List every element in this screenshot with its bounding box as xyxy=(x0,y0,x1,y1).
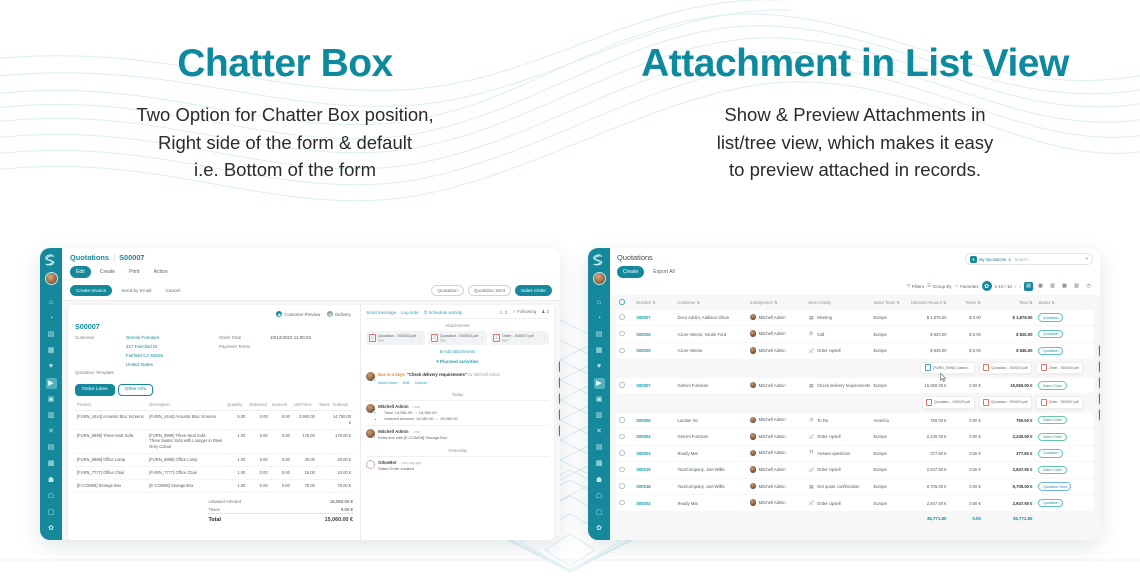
cell-next-activity[interactable]: 📈Order Upsell xyxy=(805,462,870,478)
cell-next-activity[interactable]: 📈Order Upsell xyxy=(805,343,870,359)
pivot-icon[interactable]: ▩ xyxy=(1060,282,1069,291)
order-line-row[interactable]: [FURN_8999] Three-Seat Sofa[FURN_8999] T… xyxy=(75,429,353,454)
send-message-button[interactable]: Send message xyxy=(366,310,396,315)
cell-quantity[interactable]: 5.00 xyxy=(225,410,247,429)
order-line-row[interactable]: [E-COM08] Storage Box[E-COM08] Storage B… xyxy=(75,480,353,493)
edit-activity-link[interactable]: Edit xyxy=(403,380,410,385)
group-by-button[interactable]: ☰Group By xyxy=(927,283,952,289)
col-delivered[interactable]: Delivered xyxy=(247,399,269,411)
row-checkbox-cell[interactable] xyxy=(616,343,633,359)
cell-customer[interactable]: Azure Interior, Nicole Ford xyxy=(674,326,746,342)
cell-product[interactable]: [E-COM08] Storage Box xyxy=(75,480,147,493)
col-unit-price[interactable]: Unit Price xyxy=(292,399,317,411)
cell-salesperson[interactable]: Mitchell Admin xyxy=(747,413,805,429)
cell-status[interactable]: Quotation xyxy=(1035,310,1080,326)
cell-sales-team[interactable]: Europe xyxy=(870,495,904,511)
cell-taxes[interactable] xyxy=(317,454,331,467)
table-row[interactable]: S00003Ready MatMitchell Admin⁇Answer que… xyxy=(616,446,1094,462)
cell-total[interactable]: $ 1,876.00 xyxy=(984,310,1036,326)
cell-invoiced[interactable]: 0.00 xyxy=(270,410,292,429)
fullscreen-icon[interactable]: ⛶ xyxy=(559,392,560,405)
stage-quotation-sent[interactable]: Quotation Sent xyxy=(468,285,511,296)
col-customer[interactable]: Customer ⇅ xyxy=(674,296,746,309)
col-quantity[interactable]: Quantity xyxy=(225,399,247,411)
col-subtotal[interactable]: Subtotal xyxy=(331,399,353,411)
action-button[interactable]: Action xyxy=(149,267,173,277)
cell-untaxed-amount[interactable]: 9,705.00 € xyxy=(905,479,950,495)
table-row[interactable]: S00019YourCompany, Joel WillisMitchell A… xyxy=(616,462,1094,478)
col-sales-team[interactable]: Sales Team ⇅ xyxy=(870,296,904,309)
cell-taxes[interactable]: 0.00 € xyxy=(950,378,984,394)
cell-taxes[interactable]: 0.00 € xyxy=(950,479,984,495)
col-description[interactable]: Description xyxy=(147,399,225,411)
chevron-down-icon[interactable]: ▾ xyxy=(1086,256,1088,262)
cell-next-activity[interactable]: ▤Meeting xyxy=(805,310,870,326)
cell-invoiced[interactable]: 0.00 xyxy=(270,429,292,454)
cell-invoiced[interactable]: 0.00 xyxy=(270,454,292,467)
sidebar-icon-sales[interactable]: ▶ xyxy=(46,378,57,389)
print-button[interactable]: Print xyxy=(124,267,144,277)
cell-sales-team[interactable]: Europe xyxy=(870,343,904,359)
attachment-chip[interactable]: [FURN_0096] Custom... xyxy=(920,362,974,374)
cell-untaxed-amount[interactable]: $ 846.00 xyxy=(905,343,950,359)
field-payment-terms-value[interactable] xyxy=(270,344,353,351)
row-checkbox[interactable] xyxy=(619,500,625,506)
cell-total[interactable]: 2,947.50 € xyxy=(984,462,1036,478)
cell-status[interactable]: Quotation xyxy=(1035,446,1080,462)
cell-untaxed-amount[interactable]: 750.00 € xyxy=(905,413,950,429)
cell-customer[interactable]: YourCompany, Joel Willis xyxy=(674,462,746,478)
field-order-date[interactable]: Order Date 10/12/2022 11:00:23 xyxy=(219,335,353,342)
cell-status[interactable]: Sales Order xyxy=(1035,429,1080,445)
row-checkbox-cell[interactable] xyxy=(616,326,633,342)
cell-untaxed-amount[interactable]: 2,947.50 € xyxy=(905,462,950,478)
cell-sales-team[interactable]: Europe xyxy=(870,378,904,394)
calendar-icon[interactable]: ▥ xyxy=(1048,282,1057,291)
cell-number[interactable]: S00018 xyxy=(633,479,674,495)
sidebar-icon-inventory[interactable]: ▥ xyxy=(594,410,605,421)
sidebar-icon-contacts[interactable]: ▦ xyxy=(46,345,57,356)
sidebar-icon-crm[interactable]: ♥ xyxy=(46,361,57,372)
cell-customer[interactable]: Lumber Inc xyxy=(674,413,746,429)
fullscreen-icon[interactable]: ⛶ xyxy=(1099,376,1100,389)
cell-untaxed-amount[interactable]: $ 820.00 xyxy=(905,326,950,342)
cell-next-activity[interactable]: ✆Call xyxy=(805,326,870,342)
cell-subtotal[interactable]: 18.00 € xyxy=(331,467,353,480)
stage-quotation[interactable]: Quotation xyxy=(431,285,463,296)
cell-number[interactable]: S00006 xyxy=(633,413,674,429)
cell-quantity[interactable]: 1.00 xyxy=(225,480,247,493)
cell-number[interactable]: S00007 xyxy=(633,378,674,394)
col-untaxed-amount[interactable]: Untaxed Amount ⇅ xyxy=(905,296,950,309)
cell-next-activity[interactable]: 📈Order Upsell xyxy=(805,495,870,511)
attachment-chip[interactable]: Quotation - S00023.pdf xyxy=(979,362,1032,374)
col-status[interactable]: Status ⇅ xyxy=(1035,296,1080,309)
export-all-button[interactable]: Export All xyxy=(648,267,680,277)
cell-options[interactable] xyxy=(1080,479,1094,495)
sidebar-icon-purchase[interactable]: ▤ xyxy=(46,442,57,453)
cell-untaxed-amount[interactable]: 2,240.00 € xyxy=(905,429,950,445)
cell-taxes[interactable]: 0.00 € xyxy=(950,495,984,511)
col-taxes[interactable]: Taxes xyxy=(317,399,331,411)
attachment-menu-icon[interactable]: ⋮ xyxy=(481,336,484,340)
field-order-date-value[interactable]: 10/12/2022 11:00:23 xyxy=(270,335,353,342)
sidebar-icon-inventory[interactable]: ▥ xyxy=(46,410,57,421)
attachment-chip[interactable]: Quotation - S00023.pdf xyxy=(922,396,975,408)
cell-number[interactable]: S00019 xyxy=(633,462,674,478)
delivery-stat[interactable]: ▤ Delivery xyxy=(327,311,351,317)
cell-salesperson[interactable]: Mitchell Admin xyxy=(747,343,805,359)
close-icon[interactable]: ✕ xyxy=(1008,257,1012,262)
mark-done-link[interactable]: Mark Done xyxy=(378,380,398,385)
col-options[interactable]: ⋮ xyxy=(1080,296,1094,309)
cell-sales-team[interactable]: Europe xyxy=(870,479,904,495)
sidebar-icon-discuss[interactable]: ◔ xyxy=(594,313,605,324)
cell-taxes[interactable]: 0.00 € xyxy=(950,413,984,429)
cell-options[interactable] xyxy=(1080,429,1094,445)
row-checkbox[interactable] xyxy=(619,331,625,337)
field-customer[interactable]: Customer Gemini Furniture xyxy=(75,335,209,342)
cell-quantity[interactable]: 1.00 xyxy=(225,454,247,467)
cell-sales-team[interactable]: Europe xyxy=(870,446,904,462)
row-checkbox-cell[interactable] xyxy=(616,446,633,462)
customer-preview-stat[interactable]: ◉ Customer Preview xyxy=(276,311,320,317)
sidebar-icon-discuss[interactable]: ◔ xyxy=(46,313,57,324)
message-author[interactable]: OdooBot- one day ago xyxy=(378,460,549,465)
cell-options[interactable] xyxy=(1080,343,1094,359)
col-invoiced[interactable]: Invoiced xyxy=(270,399,292,411)
kanban-icon[interactable]: ▦ xyxy=(1036,282,1045,291)
add-attachments-button[interactable]: ⊞ Add attachments xyxy=(366,349,549,354)
cell-next-activity[interactable]: ⁇Answer questions xyxy=(805,446,870,462)
tab-other-info[interactable]: Other Info xyxy=(118,384,154,396)
sidebar-icon-recruitment[interactable]: ☖ xyxy=(46,491,57,502)
schedule-activity-button[interactable]: ⏱ Schedule activity xyxy=(424,310,463,315)
cell-product[interactable]: [FURN_8888] Office Lamp xyxy=(75,454,147,467)
cell-description[interactable]: [FURN_7777] Office Chair xyxy=(147,467,225,480)
breadcrumb-parent[interactable]: Quotations xyxy=(70,253,109,262)
row-checkbox[interactable] xyxy=(619,314,625,320)
sidebar-icon-manufacturing[interactable]: ✕ xyxy=(594,426,605,437)
cell-subtotal[interactable]: 79.00 € xyxy=(331,480,353,493)
follower-badge[interactable]: ♟ 3 xyxy=(541,309,549,315)
cell-options[interactable] xyxy=(1080,413,1094,429)
cell-number[interactable]: S00007 xyxy=(633,310,674,326)
row-checkbox-cell[interactable] xyxy=(616,462,633,478)
sidebar-icon-calendar[interactable]: ▤ xyxy=(46,329,57,340)
cell-delivered[interactable]: 0.00 xyxy=(247,410,269,429)
cell-salesperson[interactable]: Mitchell Admin xyxy=(747,462,805,478)
edit-button[interactable]: Edit xyxy=(70,266,91,278)
cell-options[interactable] xyxy=(1080,446,1094,462)
field-quotation-template-value[interactable] xyxy=(126,370,209,377)
table-row[interactable]: S00006Lumber IncMitchell Admin◷To DoAmer… xyxy=(616,413,1094,429)
cell-status[interactable]: Quotation xyxy=(1035,343,1080,359)
table-row[interactable]: S00026Azure Interior, Nicole FordMitchel… xyxy=(616,326,1094,342)
sidebar-icon-calendar[interactable]: ▤ xyxy=(594,329,605,340)
cell-salesperson[interactable]: Mitchell Admin xyxy=(747,429,805,445)
cell-unit-price[interactable]: 2,950.00 xyxy=(292,410,317,429)
cell-total[interactable]: 2,947.50 € xyxy=(984,495,1036,511)
sidebar-icon-apps[interactable]: ▢ xyxy=(594,507,605,518)
cell-taxes[interactable]: $ 0.00 xyxy=(950,310,984,326)
col-total[interactable]: Total ⇅ xyxy=(984,296,1036,309)
cell-description[interactable]: [E-COM08] Storage Box xyxy=(147,480,225,493)
cell-delivered[interactable]: 0.00 xyxy=(247,429,269,454)
cell-product[interactable]: [FURN_7777] Office Chair xyxy=(75,467,147,480)
cell-total[interactable]: 750.00 € xyxy=(984,413,1036,429)
pager-prev-button[interactable]: ‹ xyxy=(1015,284,1017,289)
sidebar-icon-purchase[interactable]: ▤ xyxy=(594,442,605,453)
create-invoice-button[interactable]: Create Invoice xyxy=(70,285,112,296)
cell-untaxed-amount[interactable]: 2,947.50 € xyxy=(905,495,950,511)
cell-quantity[interactable]: 1.00 xyxy=(225,467,247,480)
cell-total[interactable]: 2,240.00 € xyxy=(984,429,1036,445)
row-checkbox-cell[interactable] xyxy=(616,413,633,429)
cell-invoiced[interactable]: 0.00 xyxy=(270,480,292,493)
log-note-button[interactable]: Log note xyxy=(401,310,419,315)
cell-taxes[interactable] xyxy=(317,410,331,429)
cell-subtotal[interactable]: 40.00 € xyxy=(331,454,353,467)
search-icon[interactable]: ⌕ xyxy=(559,376,560,389)
cell-total[interactable]: $ 846.00 xyxy=(984,343,1036,359)
cell-status[interactable]: Quotation xyxy=(1035,495,1080,511)
cell-options[interactable] xyxy=(1080,378,1094,394)
cell-total[interactable]: 377.60 € xyxy=(984,446,1036,462)
sidebar-icon-home[interactable]: ⌂ xyxy=(594,297,605,308)
row-checkbox[interactable] xyxy=(619,382,625,388)
col-salesperson[interactable]: Salesperson ⇅ xyxy=(747,296,805,309)
sidebar-icon-employees[interactable]: ☗ xyxy=(46,475,57,486)
cell-taxes[interactable]: 0.00 € xyxy=(950,446,984,462)
cell-sales-team[interactable]: Europe xyxy=(870,326,904,342)
cell-salesperson[interactable]: Mitchell Admin xyxy=(747,310,805,326)
cell-unit-price[interactable]: 79.00 xyxy=(292,480,317,493)
row-checkbox[interactable] xyxy=(619,434,625,440)
cell-number[interactable]: S00003 xyxy=(633,446,674,462)
cell-invoiced[interactable]: 0.00 xyxy=(270,467,292,480)
cell-taxes[interactable] xyxy=(317,480,331,493)
select-all-checkbox-cell[interactable] xyxy=(616,296,633,309)
order-line-row[interactable]: [FURN_8888] Office Lamp[FURN_8888] Offic… xyxy=(75,454,353,467)
cell-status[interactable]: Sales Order xyxy=(1035,378,1080,394)
table-row[interactable]: S00002Ready MatMitchell Admin📈Order Upse… xyxy=(616,495,1094,511)
col-number[interactable]: Number ⇅ xyxy=(633,296,674,309)
follower-count[interactable]: ☺ 3 xyxy=(499,310,507,315)
sidebar-icon-website[interactable]: ▩ xyxy=(46,458,57,469)
cell-next-activity[interactable]: ◷To Do xyxy=(805,413,870,429)
sidebar-icon-invoicing[interactable]: ▣ xyxy=(46,394,57,405)
row-checkbox-cell[interactable] xyxy=(616,429,633,445)
attachment-chip[interactable]: Order - S00007.pdf xyxy=(1036,396,1083,408)
cell-taxes[interactable]: $ 0.00 xyxy=(950,343,984,359)
cancel-activity-link[interactable]: Cancel xyxy=(415,380,427,385)
cell-description[interactable]: [FURN_8888] Office Lamp xyxy=(147,454,225,467)
attachment-chip[interactable]: Quotation - S00010.pdf xyxy=(979,396,1032,408)
sidebar-icon-apps[interactable]: ▢ xyxy=(46,507,57,518)
cell-quantity[interactable]: 1.00 xyxy=(225,429,247,454)
message-author[interactable]: Mitchell Admin- now xyxy=(378,429,549,434)
cell-sales-team[interactable]: Europe xyxy=(870,310,904,326)
cell-untaxed-amount[interactable]: 377.60 € xyxy=(905,446,950,462)
cell-taxes[interactable]: $ 0.00 xyxy=(950,326,984,342)
cell-delivered[interactable]: 0.00 xyxy=(247,454,269,467)
favorites-button[interactable]: ☆Favorites xyxy=(955,283,979,289)
cell-untaxed-amount[interactable]: $ 1,876.00 xyxy=(905,310,950,326)
cell-salesperson[interactable]: Mitchell Admin xyxy=(747,495,805,511)
pager-label[interactable]: 1-10 / 10 xyxy=(995,284,1012,289)
following-button[interactable]: ✓ Following xyxy=(512,309,536,315)
row-checkbox[interactable] xyxy=(619,483,625,489)
row-checkbox-cell[interactable] xyxy=(616,378,633,394)
cell-options[interactable] xyxy=(1080,495,1094,511)
cell-total[interactable]: 15,060.00 € xyxy=(984,378,1036,394)
cell-customer[interactable]: Ready Mat xyxy=(674,446,746,462)
cell-sales-team[interactable]: Europe xyxy=(870,429,904,445)
sidebar-icon-recruitment[interactable]: ☖ xyxy=(594,491,605,502)
cell-status[interactable]: Sales Order xyxy=(1035,462,1080,478)
search-input[interactable]: Search... xyxy=(1015,257,1083,262)
filters-button[interactable]: ▽Filters xyxy=(907,283,924,289)
col-taxes[interactable]: Taxes ⇅ xyxy=(950,296,984,309)
app-sidebar-right[interactable]: ⌂ ◔ ▤ ▦ ♥ ▶ ▣ ▥ ✕ ▤ ▩ ☗ ☖ ▢ ✿ xyxy=(588,248,610,540)
sidebar-icon-settings[interactable]: ✿ xyxy=(46,523,57,534)
activity-icon[interactable]: ◷ xyxy=(1084,282,1093,291)
create-button[interactable]: Create xyxy=(617,266,644,278)
cell-next-activity[interactable]: 📈Order Upsell xyxy=(805,429,870,445)
cell-options[interactable] xyxy=(1080,310,1094,326)
cell-total[interactable]: $ 820.00 xyxy=(984,326,1036,342)
cell-number[interactable]: S00025 xyxy=(633,343,674,359)
cell-customer[interactable]: Azure Interior xyxy=(674,343,746,359)
cell-options[interactable] xyxy=(1080,326,1094,342)
cell-status[interactable]: Quotation xyxy=(1035,326,1080,342)
grid-icon[interactable]: ▦ xyxy=(559,424,560,437)
tab-order-lines[interactable]: Order Lines xyxy=(75,384,115,396)
row-checkbox[interactable] xyxy=(619,467,625,473)
sidebar-icon-contacts[interactable]: ▦ xyxy=(594,345,605,356)
cell-salesperson[interactable]: Mitchell Admin xyxy=(747,479,805,495)
cell-sales-team[interactable]: America xyxy=(870,413,904,429)
attachment-menu-icon[interactable]: ⋮ xyxy=(419,336,422,340)
cell-customer[interactable]: Ready Mat xyxy=(674,495,746,511)
sidebar-icon-settings[interactable]: ✿ xyxy=(594,523,605,534)
attachment-chip[interactable]: AOrder - S00007.pdfPDF⋮ xyxy=(490,331,549,345)
select-all-checkbox[interactable] xyxy=(619,299,625,305)
cell-number[interactable]: S00002 xyxy=(633,495,674,511)
attachment-chip[interactable]: AQuotation - S00010.pdfPDF⋮ xyxy=(428,331,487,345)
search-icon[interactable]: ⌕ xyxy=(1099,360,1100,373)
cancel-button[interactable]: Cancel xyxy=(160,286,185,295)
settings-icon[interactable]: ✿ xyxy=(559,408,560,421)
star-icon[interactable]: ★ xyxy=(559,360,560,373)
cell-customer[interactable]: Gemini Furniture xyxy=(674,378,746,394)
cell-salesperson[interactable]: Mitchell Admin xyxy=(747,378,805,394)
cell-options[interactable] xyxy=(1080,462,1094,478)
sidebar-icon-sales[interactable]: ▶ xyxy=(594,378,605,389)
cell-product[interactable]: [FURN_8999] Three-Seat Sofa xyxy=(75,429,147,454)
user-avatar[interactable] xyxy=(45,272,58,285)
grid-icon[interactable]: ▦ xyxy=(1099,408,1100,421)
list-icon[interactable]: ▤ xyxy=(1024,282,1033,291)
sidebar-icon-home[interactable]: ⌂ xyxy=(46,297,57,308)
cell-subtotal[interactable]: 14,750.00 € xyxy=(331,410,353,429)
cell-sales-team[interactable]: Europe xyxy=(870,462,904,478)
breadcrumb[interactable]: Quotations | S00007 xyxy=(70,253,552,262)
create-button[interactable]: Create xyxy=(95,267,120,277)
cell-number[interactable]: S00004 xyxy=(633,429,674,445)
cell-taxes[interactable]: 0.00 € xyxy=(950,462,984,478)
row-checkbox-cell[interactable] xyxy=(616,479,633,495)
col-next-activity[interactable]: Next Activity xyxy=(805,296,870,309)
send-by-email-button[interactable]: Send by Email xyxy=(116,286,156,295)
cell-salesperson[interactable]: Mitchell Admin xyxy=(747,446,805,462)
star-icon[interactable]: ★ xyxy=(1099,344,1100,357)
cell-description[interactable]: [FURN_8999] Three-Seat Sofa Three Seater… xyxy=(147,429,225,454)
table-row[interactable]: S00007Gemini FurnitureMitchell Admin▤Che… xyxy=(616,378,1094,394)
gear-icon[interactable]: ✿ xyxy=(982,281,992,291)
table-row[interactable]: S00007Deco Addict, Addison OlsonMitchell… xyxy=(616,310,1094,326)
table-row[interactable]: S00025Azure InteriorMitchell Admin📈Order… xyxy=(616,343,1094,359)
field-payment-terms[interactable]: Payment Terms xyxy=(219,344,353,351)
app-sidebar-left[interactable]: ⌂ ◔ ▤ ▦ ♥ ▶ ▣ ▥ ✕ ▤ ▩ ☗ ☖ ▢ ✿ xyxy=(40,248,62,540)
field-customer-value[interactable]: Gemini Furniture xyxy=(126,335,209,342)
app-logo-icon[interactable] xyxy=(591,253,607,269)
cell-salesperson[interactable]: Mitchell Admin xyxy=(747,326,805,342)
sidebar-icon-manufacturing[interactable]: ✕ xyxy=(46,426,57,437)
cell-customer[interactable]: Deco Addict, Addison Olson xyxy=(674,310,746,326)
pager-next-button[interactable]: › xyxy=(1020,284,1022,289)
sidebar-icon-employees[interactable]: ☗ xyxy=(594,475,605,486)
row-checkbox-cell[interactable] xyxy=(616,495,633,511)
row-checkbox[interactable] xyxy=(619,348,625,354)
cell-delivered[interactable]: 0.00 xyxy=(247,467,269,480)
order-line-row[interactable]: [FURN_4444] Acoustic Bloc Screens[FURN_4… xyxy=(75,410,353,429)
message-author[interactable]: Mitchell Admin- now xyxy=(378,404,549,409)
table-row[interactable]: S00004Gemini FurnitureMitchell Admin📈Ord… xyxy=(616,429,1094,445)
cell-unit-price[interactable]: 18.00 xyxy=(292,467,317,480)
cell-next-activity[interactable]: ▤Get quote confirmation xyxy=(805,479,870,495)
settings-icon[interactable]: ✿ xyxy=(1099,392,1100,405)
cell-total[interactable]: 9,705.00 € xyxy=(984,479,1036,495)
cell-unit-price[interactable]: 40.00 xyxy=(292,454,317,467)
order-line-row[interactable]: [FURN_7777] Office Chair[FURN_7777] Offi… xyxy=(75,467,353,480)
cell-taxes[interactable] xyxy=(317,467,331,480)
field-quotation-template[interactable]: Quotation Template xyxy=(75,370,209,377)
attachment-chip[interactable]: Order - S00019.pdf xyxy=(1036,362,1083,374)
cell-next-activity[interactable]: ▤Check delivery requirements xyxy=(805,378,870,394)
cell-delivered[interactable]: 0.00 xyxy=(247,480,269,493)
cell-subtotal[interactable]: 175.00 € xyxy=(331,429,353,454)
row-checkbox[interactable] xyxy=(619,450,625,456)
cell-product[interactable]: [FURN_4444] Acoustic Bloc Screens xyxy=(75,410,147,429)
attachment-menu-icon[interactable]: ⋮ xyxy=(543,336,546,340)
user-avatar[interactable] xyxy=(593,272,606,285)
stage-sales-order[interactable]: Sales Order xyxy=(515,285,552,296)
sidebar-icon-website[interactable]: ▩ xyxy=(594,458,605,469)
cell-taxes[interactable] xyxy=(317,429,331,454)
cell-number[interactable]: S00026 xyxy=(633,326,674,342)
cell-status[interactable]: Quotation Sent xyxy=(1035,479,1080,495)
app-logo-icon[interactable] xyxy=(43,253,59,269)
search-bar[interactable]: ▼ My Quotations ✕ Search... ▾ xyxy=(965,253,1093,265)
table-row[interactable]: S00018YourCompany, Joel WillisMitchell A… xyxy=(616,479,1094,495)
cell-unit-price[interactable]: 175.00 xyxy=(292,429,317,454)
col-product[interactable]: Product xyxy=(75,399,147,411)
cell-description[interactable]: [FURN_4444] Acoustic Bloc Screens xyxy=(147,410,225,429)
row-checkbox[interactable] xyxy=(619,417,625,423)
sidebar-icon-invoicing[interactable]: ▣ xyxy=(594,394,605,405)
